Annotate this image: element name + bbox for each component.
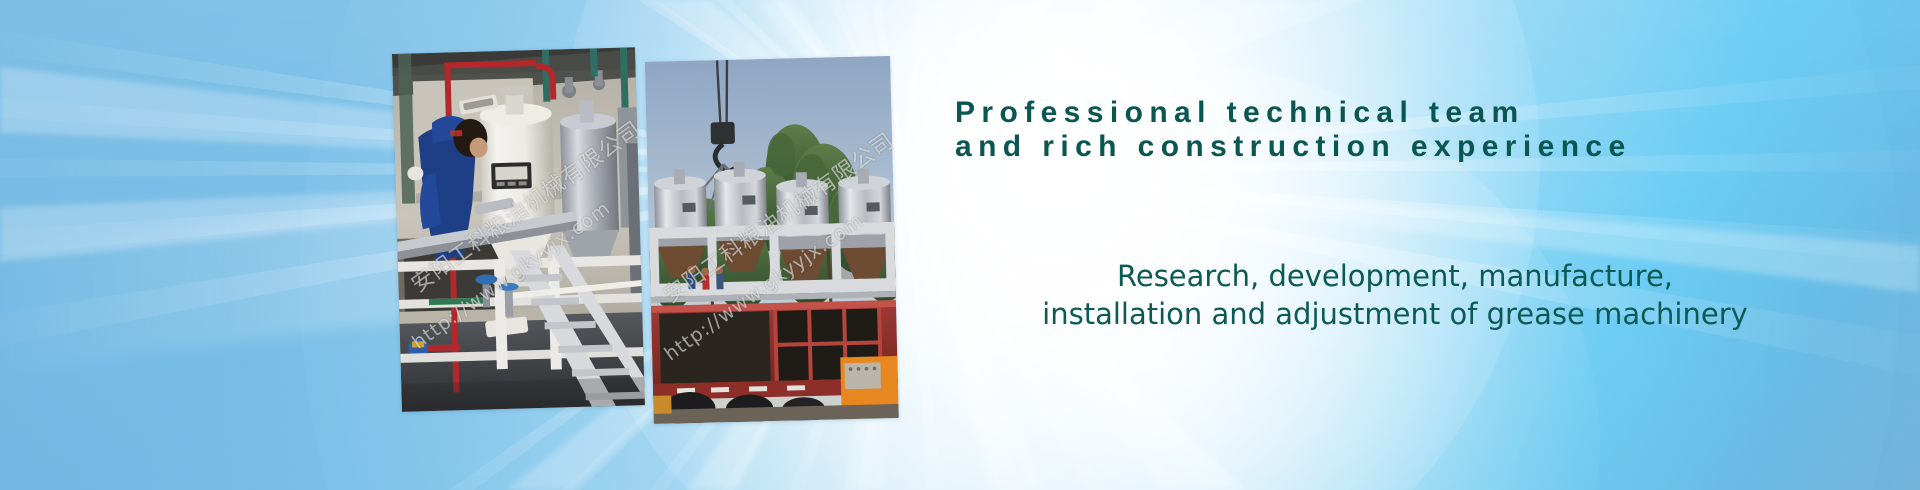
crane-loading-filter-tanks-photo: 安阳工科粮油机械有限公司 http://www.gkyyjx.com [645, 56, 899, 424]
subheadline-line-1: Research, development, manufacture, [955, 257, 1835, 295]
oil-refining-plant-photo: 安阳工科粮油机械有限公司 http://www.gkyyjx.com [392, 47, 645, 412]
oil-refining-plant-illustration [392, 47, 645, 412]
headline-line-2: and rich construction experience [955, 130, 1835, 164]
promo-banner: 安阳工科粮油机械有限公司 http://www.gkyyjx.com [0, 0, 1920, 490]
crane-loading-filter-tanks-illustration [645, 56, 899, 424]
subheadline-block: Research, development, manufacture, inst… [955, 257, 1835, 333]
subheadline-line-2: installation and adjustment of grease ma… [955, 295, 1835, 333]
headline-line-1: Professional technical team [955, 96, 1835, 130]
headline-block: Professional technical team and rich con… [955, 96, 1835, 164]
